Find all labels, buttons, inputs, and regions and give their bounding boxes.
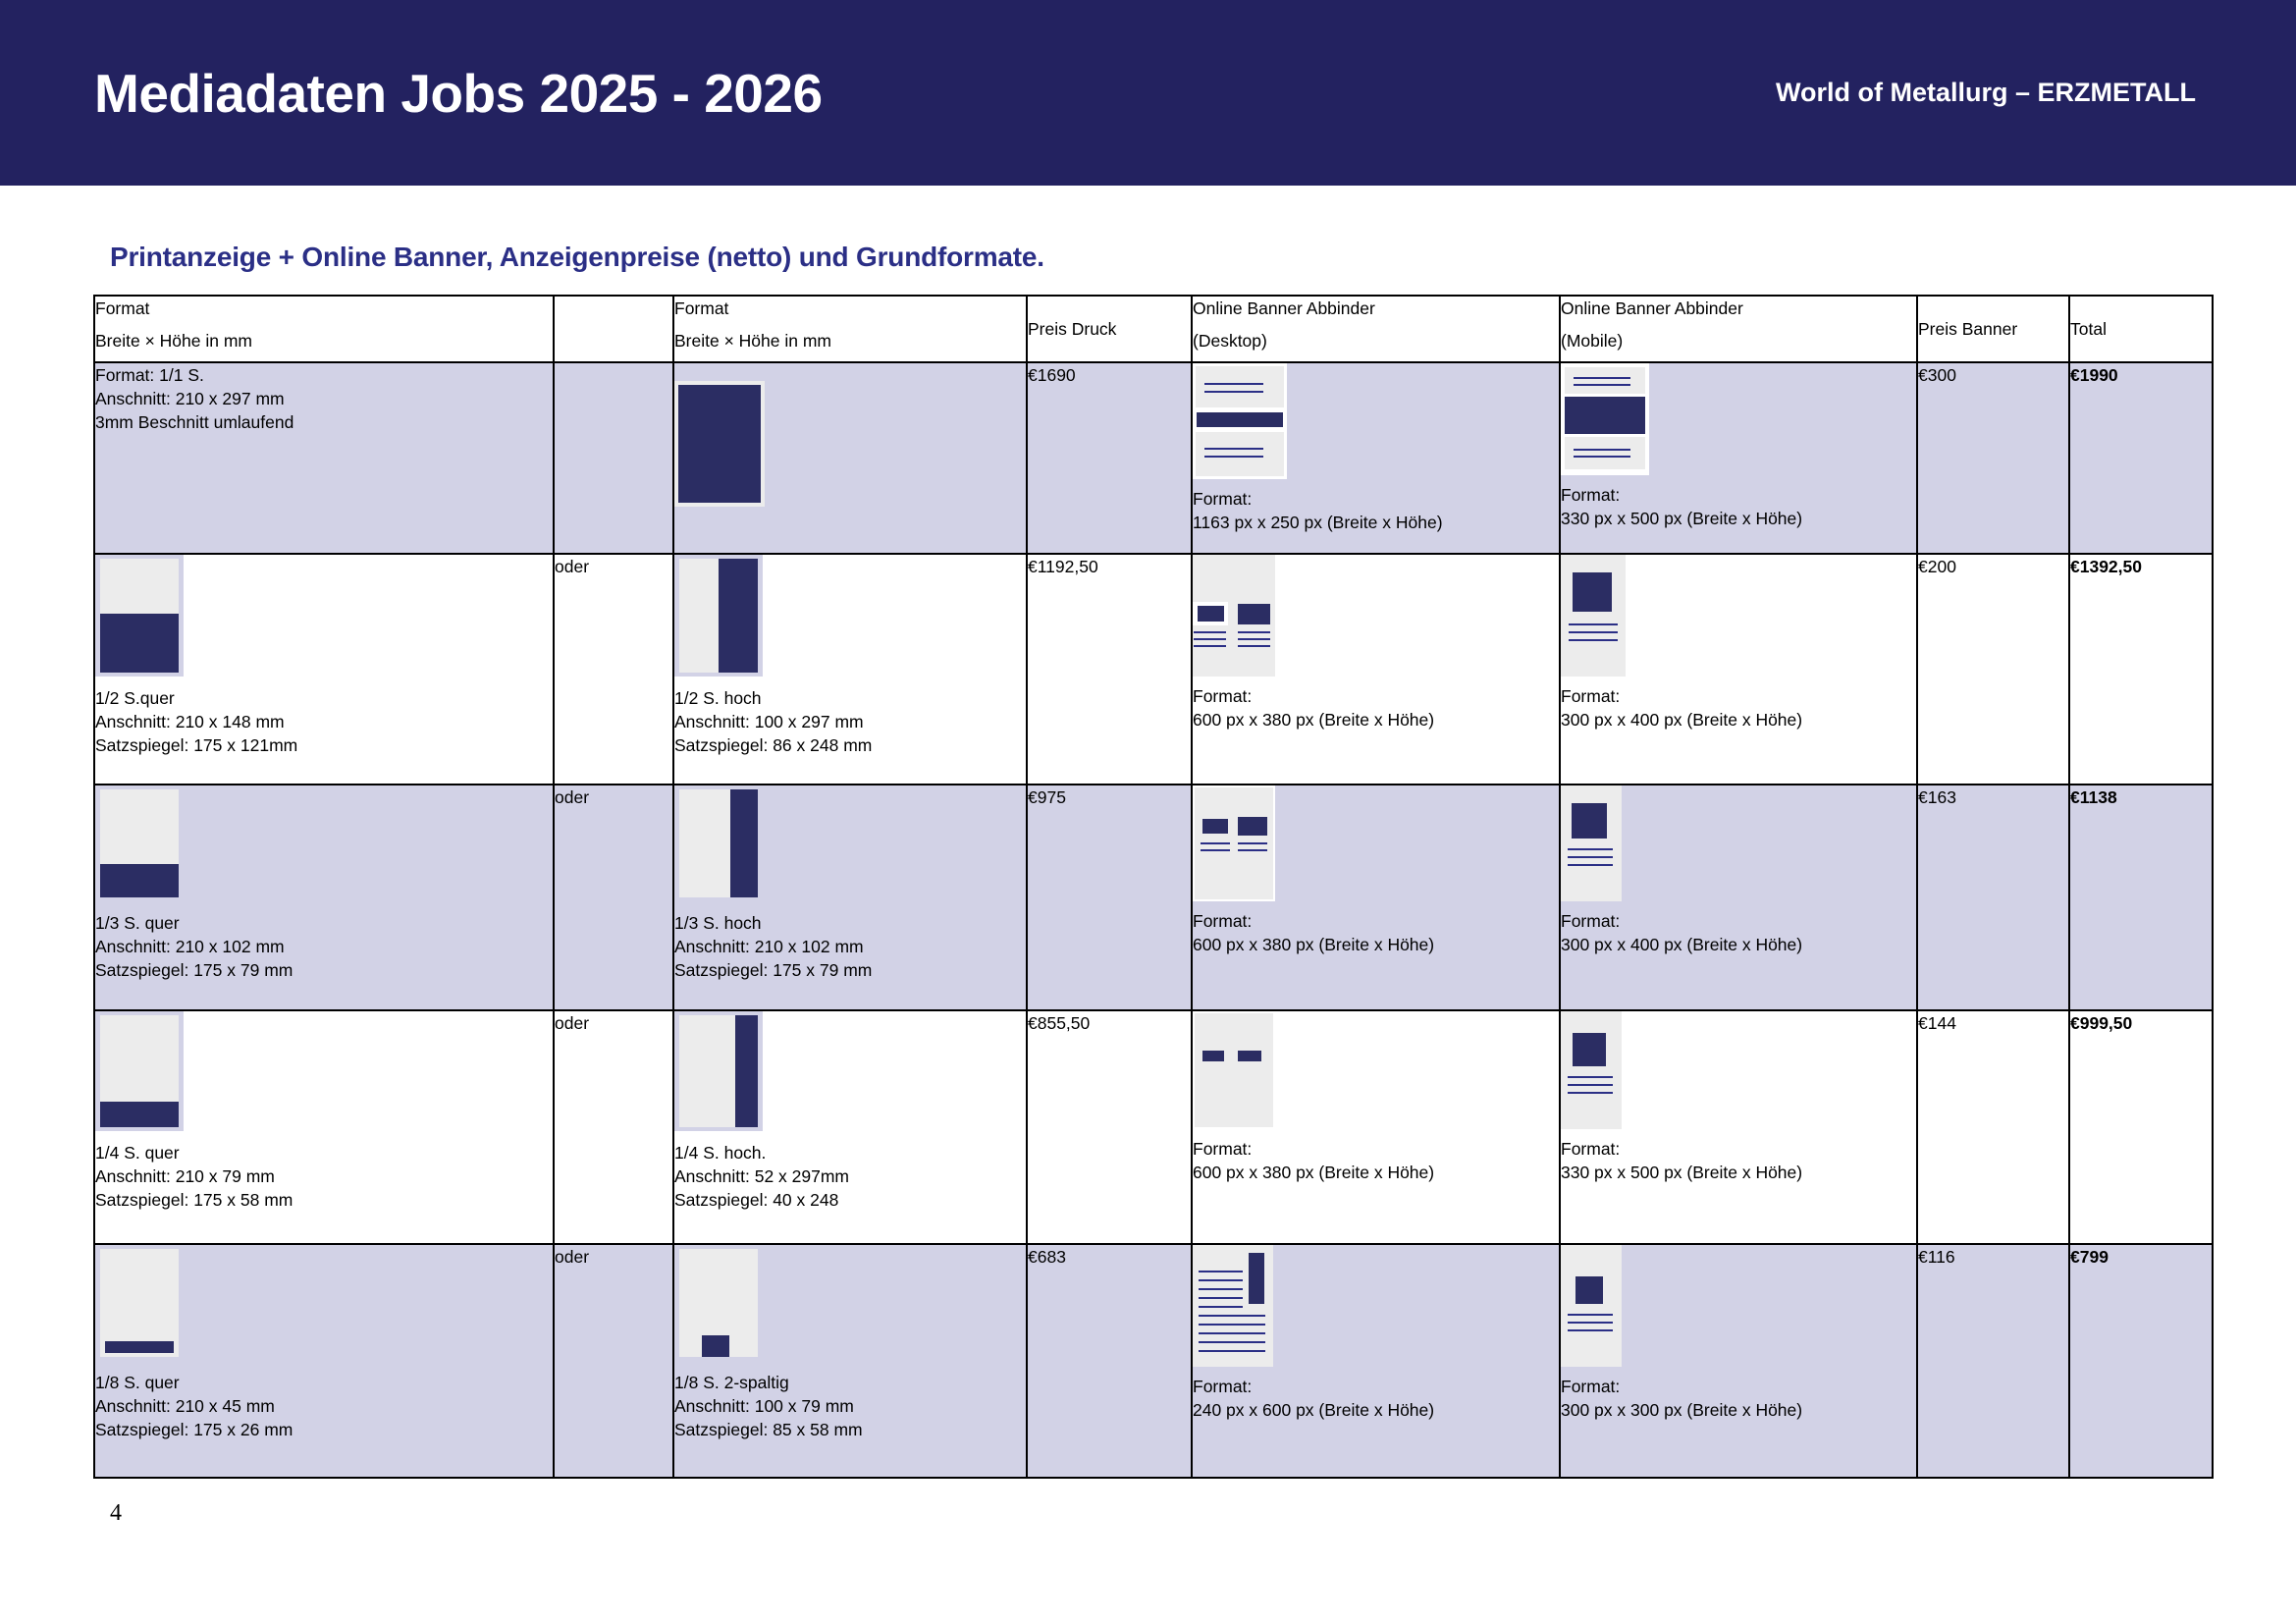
format1-text: 1/4 S. quer Anschnitt: 210 x 79 mm Satzs…: [95, 1141, 553, 1212]
header-format2: Format Breite × Höhe in mm: [673, 296, 1027, 362]
cell-total: €1138: [2069, 785, 2213, 1010]
mobile-format-label: Format:: [1561, 684, 1916, 708]
cell-banner-desktop: Format: 1163 px x 250 px (Breite x Höhe): [1192, 362, 1560, 554]
cell-total: €999,50: [2069, 1010, 2213, 1244]
mock-content-bottom: [1196, 432, 1284, 476]
cell-format1: 1/3 S. quer Anschnitt: 210 x 102 mm Satz…: [94, 785, 554, 1010]
cell-banner-mobile: Format: 300 px x 400 px (Breite x Höhe): [1560, 785, 1917, 1010]
mock-text-line: [1568, 1322, 1613, 1324]
format2-text: 1/3 S. hoch Anschnitt: 210 x 102 mm Satz…: [674, 911, 1026, 982]
desktop-format-label: Format:: [1193, 1137, 1559, 1161]
mock-text-line: [1199, 1271, 1243, 1272]
mock-text-line: [1568, 1092, 1613, 1094]
cell-oder: oder: [554, 554, 673, 785]
header-banner-desktop-line1: Online Banner Abbinder: [1193, 297, 1559, 320]
mock-banner-slot: [1202, 819, 1228, 834]
mock-page-bg: [1195, 1013, 1273, 1127]
header-banner-desktop: Online Banner Abbinder (Desktop): [1192, 296, 1560, 362]
table-header: Format Breite × Höhe in mm Format Breite…: [94, 296, 2213, 362]
header-preis-druck: Preis Druck: [1027, 296, 1192, 362]
format1-satzspiegel: 3mm Beschnitt umlaufend: [95, 410, 553, 434]
mobile-banner-mockup: [1561, 363, 1649, 475]
print-thumbnail-half-quer-wrap: [95, 555, 553, 677]
format1-anschnitt: Anschnitt: 210 x 102 mm: [95, 935, 553, 958]
mock-text-line: [1199, 1350, 1265, 1352]
format1-name: 1/8 S. quer: [95, 1371, 553, 1394]
mobile-format-text: Format: 300 px x 400 px (Breite x Höhe): [1561, 684, 1916, 731]
cell-banner-desktop: Format: 600 px x 380 px (Breite x Höhe): [1192, 785, 1560, 1010]
mobile-format-value: 330 px x 500 px (Breite x Höhe): [1561, 1161, 1916, 1184]
mock-text-line: [1574, 377, 1630, 379]
cell-total: €1392,50: [2069, 554, 2213, 785]
table-header-row: Format Breite × Höhe in mm Format Breite…: [94, 296, 2213, 362]
desktop-mock-wrap: [1193, 363, 1559, 479]
mobile-mock-wrap: [1561, 555, 1916, 677]
mock-content-bottom: [1565, 437, 1645, 469]
format2-name: 1/3 S. hoch: [674, 911, 1026, 935]
cell-format2: 1/2 S. hoch Anschnitt: 100 x 297 mm Satz…: [673, 554, 1027, 785]
section-title: Printanzeige + Online Banner, Anzeigenpr…: [110, 242, 2296, 273]
mock-banner-slot: [1572, 803, 1607, 839]
mock-text-line: [1194, 631, 1226, 633]
mock-text-line: [1574, 384, 1630, 386]
cell-oder: oder: [554, 1244, 673, 1478]
header-oder: [554, 296, 673, 362]
cell-preis-banner: €116: [1917, 1244, 2069, 1478]
mobile-format-value: 300 px x 400 px (Breite x Höhe): [1561, 933, 1916, 956]
mobile-format-text: Format: 300 px x 300 px (Breite x Höhe): [1561, 1375, 1916, 1422]
mobile-format-label: Format:: [1561, 483, 1916, 507]
mock-text-line: [1199, 1288, 1243, 1290]
cell-banner-mobile: Format: 330 px x 500 px (Breite x Höhe): [1560, 1010, 1917, 1244]
mock-banner-slot: [1197, 412, 1283, 427]
format1-name: 1/4 S. quer: [95, 1141, 553, 1164]
cell-format1: Format: 1/1 S. Anschnitt: 210 x 297 mm 3…: [94, 362, 554, 554]
print-thumbnail-quarter-hoch: [674, 1011, 763, 1131]
print-ad-area: [730, 789, 758, 897]
print-thumbnail-third-hoch-wrap: [674, 785, 1026, 901]
mobile-mock-wrap: [1561, 1245, 1916, 1367]
mock-text-line: [1568, 1329, 1613, 1331]
format1-name: 1/2 S.quer: [95, 686, 553, 710]
desktop-format-value: 600 px x 380 px (Breite x Höhe): [1193, 933, 1559, 956]
format1-text: 1/3 S. quer Anschnitt: 210 x 102 mm Satz…: [95, 911, 553, 982]
mobile-format-label: Format:: [1561, 1137, 1916, 1161]
mock-text-line: [1194, 645, 1226, 647]
format2-satzspiegel: Satzspiegel: 175 x 79 mm: [674, 958, 1026, 982]
mobile-format-text: Format: 330 px x 500 px (Breite x Höhe): [1561, 483, 1916, 530]
format1-text: 1/2 S.quer Anschnitt: 210 x 148 mm Satzs…: [95, 686, 553, 757]
mock-text-line: [1238, 638, 1270, 640]
mock-text-line: [1568, 856, 1613, 858]
print-thumbnail-third-hoch: [674, 785, 763, 901]
mobile-format-value: 300 px x 300 px (Breite x Höhe): [1561, 1398, 1916, 1422]
cell-banner-desktop: Format: 600 px x 380 px (Breite x Höhe): [1192, 1010, 1560, 1244]
desktop-format-text: Format: 1163 px x 250 px (Breite x Höhe): [1193, 487, 1559, 534]
cell-format1: 1/2 S.quer Anschnitt: 210 x 148 mm Satzs…: [94, 554, 554, 785]
mock-banner-slot: [1238, 604, 1270, 624]
mock-text-line: [1569, 623, 1618, 625]
format2-satzspiegel: Satzspiegel: 85 x 58 mm: [674, 1418, 1026, 1441]
format1-anschnitt: Anschnitt: 210 x 79 mm: [95, 1164, 553, 1188]
desktop-format-label: Format:: [1193, 909, 1559, 933]
mock-banner-slot: [1573, 572, 1612, 612]
desktop-banner-mockup: [1193, 555, 1275, 677]
header-format2-line1: Format: [674, 297, 1026, 320]
mobile-mock-wrap: [1561, 785, 1916, 901]
cell-preis-druck: €975: [1027, 785, 1192, 1010]
format1-text: Format: 1/1 S. Anschnitt: 210 x 297 mm 3…: [95, 363, 553, 434]
mock-text-line: [1199, 1297, 1243, 1299]
format1-name: 1/3 S. quer: [95, 911, 553, 935]
header-banner-mobile-line2: (Mobile): [1561, 329, 1916, 352]
mock-text-line: [1568, 1314, 1613, 1316]
mock-text-line: [1204, 448, 1263, 450]
mock-text-line: [1569, 631, 1618, 633]
mock-banner-slot: [1238, 1051, 1261, 1061]
mock-text-line: [1238, 849, 1267, 851]
header-preis-banner: Preis Banner: [1917, 296, 2069, 362]
print-ad-area: [105, 1341, 174, 1353]
table-row: 1/2 S.quer Anschnitt: 210 x 148 mm Satzs…: [94, 554, 2213, 785]
cell-total: €1990: [2069, 362, 2213, 554]
format2-name: 1/2 S. hoch: [674, 686, 1026, 710]
desktop-mock-wrap: [1193, 785, 1559, 901]
mock-banner-slot: [1202, 1051, 1224, 1061]
desktop-banner-mockup: [1193, 1011, 1275, 1129]
print-thumbnail-quarter-quer: [95, 1011, 184, 1131]
format1-anschnitt: Anschnitt: 210 x 148 mm: [95, 710, 553, 733]
mobile-banner-mockup: [1561, 1245, 1622, 1367]
format2-name: 1/8 S. 2-spaltig: [674, 1371, 1026, 1394]
mock-text-line: [1199, 1279, 1243, 1281]
cell-format1: 1/8 S. quer Anschnitt: 210 x 45 mm Satzs…: [94, 1244, 554, 1478]
format1-satzspiegel: Satzspiegel: 175 x 121mm: [95, 733, 553, 757]
mobile-banner-mockup: [1561, 785, 1622, 901]
media-rates-table-wrapper: Format Breite × Höhe in mm Format Breite…: [93, 295, 2212, 1479]
desktop-banner-mockup: [1193, 363, 1287, 479]
format2-text: 1/8 S. 2-spaltig Anschnitt: 100 x 79 mm …: [674, 1371, 1026, 1441]
print-thumbnail-third-quer: [95, 785, 184, 901]
mobile-mock-wrap: [1561, 363, 1916, 475]
cell-oder: oder: [554, 785, 673, 1010]
mobile-mock-wrap: [1561, 1011, 1916, 1129]
print-thumbnail-half-hoch: [674, 555, 763, 677]
print-thumbnail-half-quer: [95, 555, 184, 677]
mock-text-line: [1568, 864, 1613, 866]
desktop-format-label: Format:: [1193, 487, 1559, 511]
print-thumbnail-eighth-quer: [95, 1245, 184, 1361]
desktop-format-text: Format: 600 px x 380 px (Breite x Höhe): [1193, 1137, 1559, 1184]
mock-text-line: [1238, 842, 1267, 844]
print-thumbnail-half-hoch-wrap: [674, 555, 1026, 677]
desktop-format-value: 1163 px x 250 px (Breite x Höhe): [1193, 511, 1559, 534]
mock-banner-slot: [1575, 1276, 1603, 1304]
desktop-format-value: 600 px x 380 px (Breite x Höhe): [1193, 708, 1559, 731]
mock-text-line: [1199, 1341, 1265, 1343]
header-banner-desktop-line2: (Desktop): [1193, 329, 1559, 352]
table-body: Format: 1/1 S. Anschnitt: 210 x 297 mm 3…: [94, 362, 2213, 1478]
print-ad-area: [719, 559, 758, 673]
cell-preis-druck: €1192,50: [1027, 554, 1192, 785]
mock-text-line: [1568, 1076, 1613, 1078]
header-format1: Format Breite × Höhe in mm: [94, 296, 554, 362]
mock-banner-slot: [1198, 606, 1224, 622]
desktop-format-value: 240 px x 600 px (Breite x Höhe): [1193, 1398, 1559, 1422]
print-thumbnail-quarter-quer-wrap: [95, 1011, 553, 1131]
brand-label: World of Metallurg – ERZMETALL: [1776, 78, 2206, 108]
mock-text-line: [1569, 639, 1618, 641]
cell-total: €799: [2069, 1244, 2213, 1478]
cell-format2: 1/4 S. hoch. Anschnitt: 52 x 297mm Satzs…: [673, 1010, 1027, 1244]
page-title: Mediadaten Jobs 2025 - 2026: [94, 62, 823, 125]
format2-anschnitt: Anschnitt: 100 x 297 mm: [674, 710, 1026, 733]
desktop-mock-wrap: [1193, 555, 1559, 677]
page-header-banner: Mediadaten Jobs 2025 - 2026 World of Met…: [0, 0, 2296, 186]
mock-banner-slot: [1573, 1033, 1606, 1066]
cell-preis-banner: €163: [1917, 785, 2069, 1010]
format1-anschnitt: Anschnitt: 210 x 297 mm: [95, 387, 553, 410]
header-banner-mobile-line1: Online Banner Abbinder: [1561, 297, 1916, 320]
mock-text-line: [1199, 1315, 1265, 1317]
cell-format2: 1/8 S. 2-spaltig Anschnitt: 100 x 79 mm …: [673, 1244, 1027, 1478]
cell-oder: oder: [554, 1010, 673, 1244]
cell-preis-druck: €1690: [1027, 362, 1192, 554]
mock-text-line: [1204, 391, 1263, 393]
cell-banner-desktop: Format: 600 px x 380 px (Breite x Höhe): [1192, 554, 1560, 785]
format1-satzspiegel: Satzspiegel: 175 x 58 mm: [95, 1188, 553, 1212]
cell-format1: 1/4 S. quer Anschnitt: 210 x 79 mm Satzs…: [94, 1010, 554, 1244]
mock-content-top: [1196, 366, 1284, 407]
cell-banner-mobile: Format: 330 px x 500 px (Breite x Höhe): [1560, 362, 1917, 554]
header-banner-mobile: Online Banner Abbinder (Mobile): [1560, 296, 1917, 362]
format2-satzspiegel: Satzspiegel: 86 x 248 mm: [674, 733, 1026, 757]
print-thumbnail-1-1: [674, 381, 765, 507]
desktop-format-text: Format: 240 px x 600 px (Breite x Höhe): [1193, 1375, 1559, 1422]
mock-banner-slot: [1565, 397, 1645, 434]
print-ad-area: [100, 614, 179, 673]
format2-text: 1/4 S. hoch. Anschnitt: 52 x 297mm Satzs…: [674, 1141, 1026, 1212]
mock-text-line: [1574, 456, 1630, 458]
cell-banner-mobile: Format: 300 px x 400 px (Breite x Höhe): [1560, 554, 1917, 785]
cell-preis-druck: €683: [1027, 1244, 1192, 1478]
mock-text-line: [1199, 1306, 1243, 1308]
print-ad-area: [100, 1102, 179, 1127]
print-thumbnail-eighth-2col-wrap: [674, 1245, 1026, 1361]
desktop-format-value: 600 px x 380 px (Breite x Höhe): [1193, 1161, 1559, 1184]
desktop-banner-mockup: [1193, 785, 1275, 901]
format1-anschnitt: Anschnitt: 210 x 45 mm: [95, 1394, 553, 1418]
header-total: Total: [2069, 296, 2213, 362]
mock-text-line: [1201, 849, 1230, 851]
mock-text-line: [1201, 842, 1230, 844]
mock-text-line: [1204, 456, 1263, 458]
desktop-format-label: Format:: [1193, 684, 1559, 708]
print-ad-area: [100, 864, 179, 897]
format2-anschnitt: Anschnitt: 100 x 79 mm: [674, 1394, 1026, 1418]
mock-text-line: [1204, 383, 1263, 385]
table-row: 1/8 S. quer Anschnitt: 210 x 45 mm Satzs…: [94, 1244, 2213, 1478]
mobile-format-value: 330 px x 500 px (Breite x Höhe): [1561, 507, 1916, 530]
header-format2-line2: Breite × Höhe in mm: [674, 329, 1026, 352]
mobile-format-text: Format: 330 px x 500 px (Breite x Höhe): [1561, 1137, 1916, 1184]
desktop-mock-wrap: [1193, 1245, 1559, 1367]
print-thumbnail-eighth-quer-wrap: [95, 1245, 553, 1361]
cell-preis-banner: €144: [1917, 1010, 2069, 1244]
format1-text: 1/8 S. quer Anschnitt: 210 x 45 mm Satzs…: [95, 1371, 553, 1441]
cell-preis-banner: €200: [1917, 554, 2069, 785]
header-format1-line1: Format: [95, 297, 553, 320]
mobile-format-text: Format: 300 px x 400 px (Breite x Höhe): [1561, 909, 1916, 956]
mobile-format-label: Format:: [1561, 909, 1916, 933]
mobile-banner-mockup: [1561, 555, 1626, 677]
mobile-format-label: Format:: [1561, 1375, 1916, 1398]
mock-text-line: [1238, 645, 1270, 647]
desktop-format-text: Format: 600 px x 380 px (Breite x Höhe): [1193, 684, 1559, 731]
format2-text: 1/2 S. hoch Anschnitt: 100 x 297 mm Satz…: [674, 686, 1026, 757]
mock-banner-slot: [1238, 817, 1267, 836]
cell-oder: [554, 362, 673, 554]
mock-text-line: [1238, 631, 1270, 633]
format2-anschnitt: Anschnitt: 52 x 297mm: [674, 1164, 1026, 1188]
cell-format2: 1/3 S. hoch Anschnitt: 210 x 102 mm Satz…: [673, 785, 1027, 1010]
table-row: 1/3 S. quer Anschnitt: 210 x 102 mm Satz…: [94, 785, 2213, 1010]
header-format1-line2: Breite × Höhe in mm: [95, 329, 553, 352]
print-thumbnail-quarter-hoch-wrap: [674, 1011, 1026, 1131]
desktop-mock-wrap: [1193, 1011, 1559, 1129]
print-ad-area: [735, 1015, 758, 1127]
page-number: 4: [110, 1500, 2296, 1527]
format2-satzspiegel: Satzspiegel: 40 x 248: [674, 1188, 1026, 1212]
format2-anschnitt: Anschnitt: 210 x 102 mm: [674, 935, 1026, 958]
desktop-banner-mockup: [1193, 1245, 1273, 1367]
mock-banner-slot: [1249, 1253, 1264, 1304]
mock-text-line: [1199, 1324, 1265, 1326]
format2-name: 1/4 S. hoch.: [674, 1141, 1026, 1164]
mobile-format-value: 300 px x 400 px (Breite x Höhe): [1561, 708, 1916, 731]
print-thumbnail-third-quer-wrap: [95, 785, 553, 901]
mock-text-line: [1194, 638, 1226, 640]
mock-content-top: [1565, 367, 1645, 394]
format1-satzspiegel: Satzspiegel: 175 x 79 mm: [95, 958, 553, 982]
mock-text-line: [1199, 1332, 1265, 1334]
cell-format2: [673, 362, 1027, 554]
cell-banner-desktop: Format: 240 px x 600 px (Breite x Höhe): [1192, 1244, 1560, 1478]
mock-text-line: [1568, 1084, 1613, 1086]
desktop-format-label: Format:: [1193, 1375, 1559, 1398]
media-rates-table: Format Breite × Höhe in mm Format Breite…: [93, 295, 2214, 1479]
table-row: 1/4 S. quer Anschnitt: 210 x 79 mm Satzs…: [94, 1010, 2213, 1244]
mock-text-line: [1568, 848, 1613, 850]
mock-text-line: [1574, 449, 1630, 451]
desktop-format-text: Format: 600 px x 380 px (Breite x Höhe): [1193, 909, 1559, 956]
format1-satzspiegel: Satzspiegel: 175 x 26 mm: [95, 1418, 553, 1441]
format1-name: Format: 1/1 S.: [95, 363, 553, 387]
cell-banner-mobile: Format: 300 px x 300 px (Breite x Höhe): [1560, 1244, 1917, 1478]
mobile-banner-mockup: [1561, 1011, 1622, 1129]
print-ad-area: [678, 385, 761, 503]
table-row: Format: 1/1 S. Anschnitt: 210 x 297 mm 3…: [94, 362, 2213, 554]
cell-preis-druck: €855,50: [1027, 1010, 1192, 1244]
print-ad-area: [702, 1335, 729, 1357]
print-thumbnail-eighth-2col: [674, 1245, 763, 1361]
cell-preis-banner: €300: [1917, 362, 2069, 554]
